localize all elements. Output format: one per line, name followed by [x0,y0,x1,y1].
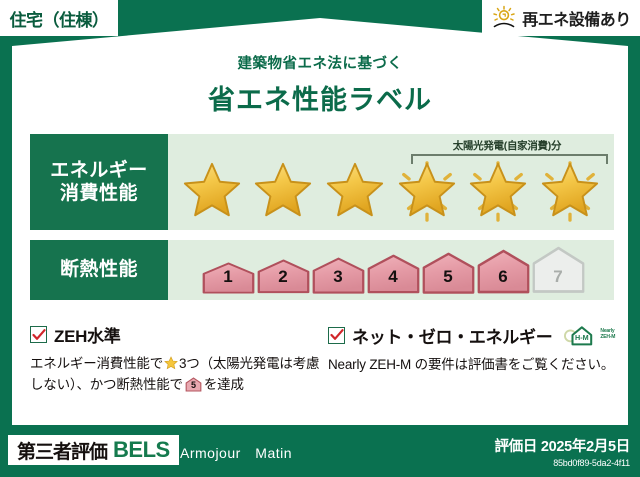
evaluation-id: 85bd0f89-5da2-4f11 [494,458,630,468]
star-rating [176,158,606,226]
nearly-zeh-m-caption: Nearly ZEH-M [600,329,615,341]
zeh-standard-title: ZEH水準 [54,322,121,347]
zeh-standard-block: ZEH水準 エネルギー消費性能で3つ（太陽光発電は考慮しない）、かつ断熱性能で5… [30,322,320,396]
housing-type-text: 住宅（住棟） [10,6,109,31]
zeh-m-caption-line2: ZEH-M [600,334,615,340]
house-level-number: 4 [388,267,397,294]
net-zero-energy-checkbox[interactable] [328,327,345,344]
house-level-number: 1 [223,267,232,294]
energy-performance-row: エネルギー 消費性能 太陽光発電(自家消費)分 [30,134,614,230]
energy-label-line2: 消費性能 [60,182,138,205]
energy-label-line1: エネルギー [50,159,148,182]
star-filled [181,161,243,223]
zeh-standard-head: ZEH水準 [30,322,320,347]
house-level-filled: 5 [422,252,475,294]
title-subtitle: 建築物省エネ法に基づく [0,52,640,73]
title-main: 省エネ性能ラベル [0,78,640,117]
evaluation-info: 評価日 2025年2月5日 85bd0f89-5da2-4f11 [494,435,630,468]
star-solar [467,161,529,223]
house-level-number: 7 [553,267,562,294]
solar-bracket-caption: 太陽光発電(自家消費)分 [400,138,614,153]
zeh-star-count: 3つ [179,356,200,371]
title-block: 建築物省エネ法に基づく 省エネ性能ラベル [0,52,640,117]
inline-house-level-number: 5 [185,379,202,393]
zeh-desc-part1: エネルギー消費性能で [30,356,163,371]
label-footer: 第三者評価 BELS Armojour Matin 評価日 2025年2月5日 … [0,427,640,477]
insulation-rating-area: 1 2 3 4 [168,240,614,300]
sun-renewable-icon [491,5,517,31]
net-zero-energy-title: ネット・ゼロ・エネルギー [352,323,552,348]
house-level-filled: 3 [312,257,365,294]
zeh-standard-description: エネルギー消費性能で3つ（太陽光発電は考慮しない）、かつ断熱性能で5を達成 [30,354,320,396]
energy-rating-area: 太陽光発電(自家消費)分 [168,134,614,230]
housing-type-badge: 住宅（住棟） [0,0,118,36]
insulation-performance-row: 断熱性能 1 2 3 [30,240,614,300]
inline-star-icon [164,356,178,370]
house-level-filled: 4 [367,254,420,294]
house-level-scale: 1 2 3 4 [182,240,604,300]
zeh-desc-part3: を達成 [204,377,244,392]
bels-logo: 第三者評価 BELS [8,435,179,465]
house-level-filled: 1 [202,262,255,294]
bels-japanese-text: 第三者評価 [17,437,107,464]
star-solar [539,161,601,223]
star-solar [396,161,458,223]
net-zero-energy-description: Nearly ZEH-M の要件は評価書をご覧ください。 [328,355,618,376]
renewable-equipment-badge: 再エネ設備あり [482,0,640,36]
zeh-m-mark-label: H-M [575,333,589,342]
renewable-badge-text: 再エネ設備あり [522,6,631,30]
bels-english-text: BELS [113,437,170,463]
energy-performance-label: エネルギー 消費性能 [30,134,168,230]
house-level-filled: 2 [257,259,310,294]
evaluation-date: 評価日 2025年2月5日 [494,435,630,456]
net-zero-energy-block: ネット・ゼロ・エネルギー H-M Nearly ZEH-M Nearly ZEH… [328,322,618,376]
nearly-zeh-m-logo: H-M Nearly ZEH-M [564,322,615,348]
net-zero-energy-head: ネット・ゼロ・エネルギー H-M Nearly ZEH-M [328,322,618,348]
energy-performance-label: 住宅（住棟） 再エネ設備あり 建築物省エネ法 [0,0,640,477]
house-level-number: 3 [333,267,342,294]
house-level-empty: 7 [532,246,585,294]
building-name: Armojour Matin [180,443,292,463]
zeh-standard-checkbox[interactable] [30,326,47,343]
insulation-performance-label: 断熱性能 [30,240,168,300]
insulation-label-text: 断熱性能 [60,258,138,281]
house-level-number: 5 [443,267,452,294]
house-level-number: 2 [278,267,287,294]
house-level-number: 6 [498,267,507,294]
house-level-filled: 6 [477,249,530,294]
inline-house-level-icon: 5 [185,377,202,392]
star-filled [324,161,386,223]
star-filled [252,161,314,223]
